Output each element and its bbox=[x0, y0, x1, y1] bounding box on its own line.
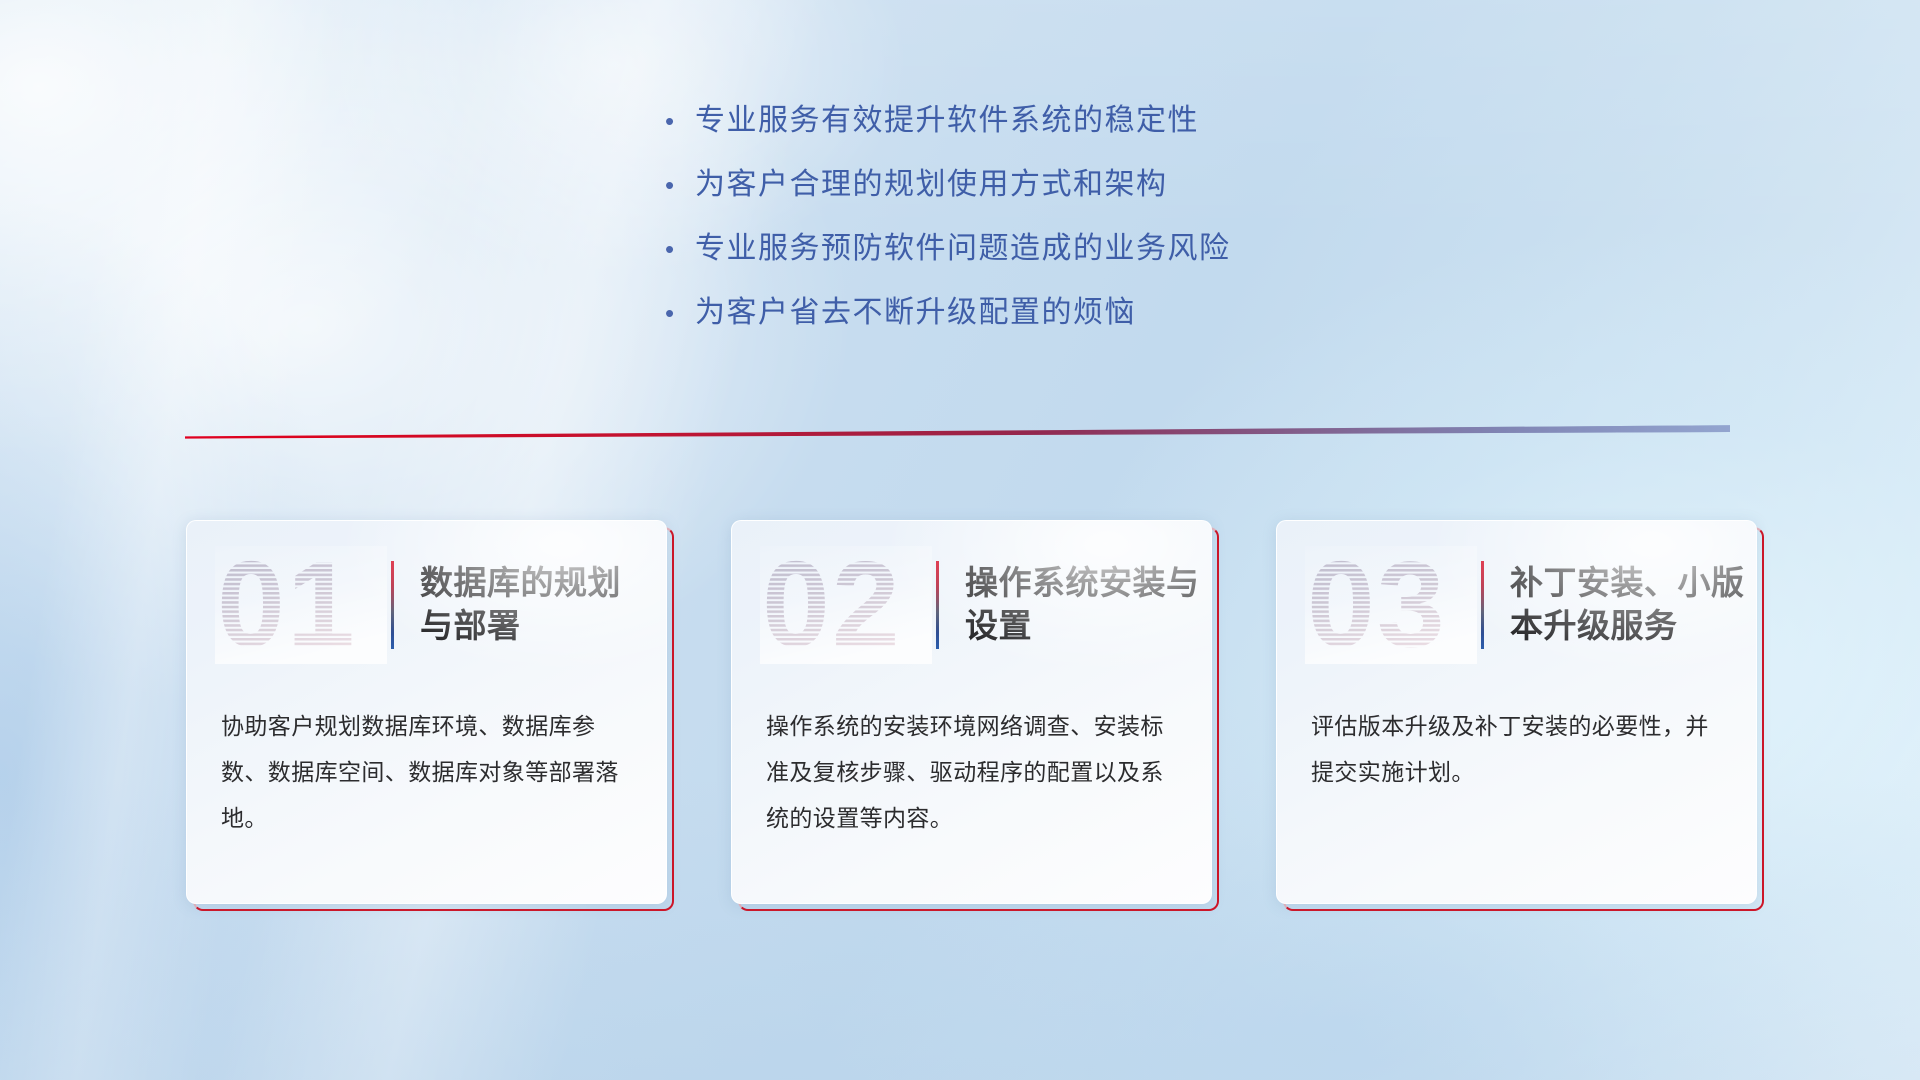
service-card[interactable]: 02 02 操作系统安装与设置 操作系统的安装环境网络调查、安装标准及复核步骤、… bbox=[731, 520, 1219, 911]
bullet-text: 专业服务有效提升软件系统的稳定性 bbox=[695, 95, 1199, 139]
card-header: 01 01 数据库的规划与部署 bbox=[187, 539, 667, 671]
bullet-marker-icon: • bbox=[665, 108, 695, 134]
bullet-text: 为客户省去不断升级配置的烦恼 bbox=[695, 287, 1136, 331]
card-description: 操作系统的安装环境网络调查、安装标准及复核步骤、驱动程序的配置以及系统的设置等内… bbox=[766, 703, 1186, 841]
svg-text:02: 02 bbox=[762, 546, 902, 664]
benefits-bullet-list: • 专业服务有效提升软件系统的稳定性 • 为客户合理的规划使用方式和架构 • 专… bbox=[665, 95, 1565, 351]
card-title-divider bbox=[1481, 561, 1484, 649]
card-header: 03 03 补丁安装、小版本升级服务 bbox=[1277, 539, 1757, 671]
bullet-marker-icon: • bbox=[665, 172, 695, 198]
list-item: • 为客户省去不断升级配置的烦恼 bbox=[665, 287, 1565, 351]
card-number-striped-icon: 02 02 bbox=[760, 546, 932, 664]
svg-text:01: 01 bbox=[217, 546, 357, 664]
card-surface: 02 02 操作系统安装与设置 操作系统的安装环境网络调查、安装标准及复核步骤、… bbox=[731, 520, 1212, 904]
bullet-text: 为客户合理的规划使用方式和架构 bbox=[695, 159, 1168, 203]
list-item: • 专业服务有效提升软件系统的稳定性 bbox=[665, 95, 1565, 159]
card-title: 数据库的规划与部署 bbox=[420, 562, 644, 648]
card-surface: 03 03 补丁安装、小版本升级服务 评估版本升级及补丁安装的必要性，并提交实施… bbox=[1276, 520, 1757, 904]
card-description: 协助客户规划数据库环境、数据库参数、数据库空间、数据库对象等部署落地。 bbox=[221, 703, 641, 841]
card-title-divider bbox=[936, 561, 939, 649]
service-card[interactable]: 01 01 数据库的规划与部署 协助客户规划数据库环境、数据库参数、数据库空间、… bbox=[186, 520, 674, 911]
card-title: 补丁安装、小版本升级服务 bbox=[1510, 562, 1754, 648]
bullet-marker-icon: • bbox=[665, 236, 695, 262]
service-card-row: 01 01 数据库的规划与部署 协助客户规划数据库环境、数据库参数、数据库空间、… bbox=[186, 520, 1738, 920]
svg-text:03: 03 bbox=[1307, 546, 1447, 664]
card-number-striped-icon: 01 01 bbox=[215, 546, 387, 664]
card-header: 02 02 操作系统安装与设置 bbox=[732, 539, 1212, 671]
card-surface: 01 01 数据库的规划与部署 协助客户规划数据库环境、数据库参数、数据库空间、… bbox=[186, 520, 667, 904]
card-title: 操作系统安装与设置 bbox=[965, 562, 1203, 648]
section-divider bbox=[185, 424, 1730, 442]
list-item: • 为客户合理的规划使用方式和架构 bbox=[665, 159, 1565, 223]
bullet-marker-icon: • bbox=[665, 300, 695, 326]
card-number-striped-icon: 03 03 bbox=[1305, 546, 1477, 664]
list-item: • 专业服务预防软件问题造成的业务风险 bbox=[665, 223, 1565, 287]
service-card[interactable]: 03 03 补丁安装、小版本升级服务 评估版本升级及补丁安装的必要性，并提交实施… bbox=[1276, 520, 1764, 911]
card-description: 评估版本升级及补丁安装的必要性，并提交实施计划。 bbox=[1311, 703, 1731, 795]
card-title-divider bbox=[391, 561, 394, 649]
bullet-text: 专业服务预防软件问题造成的业务风险 bbox=[695, 223, 1231, 267]
